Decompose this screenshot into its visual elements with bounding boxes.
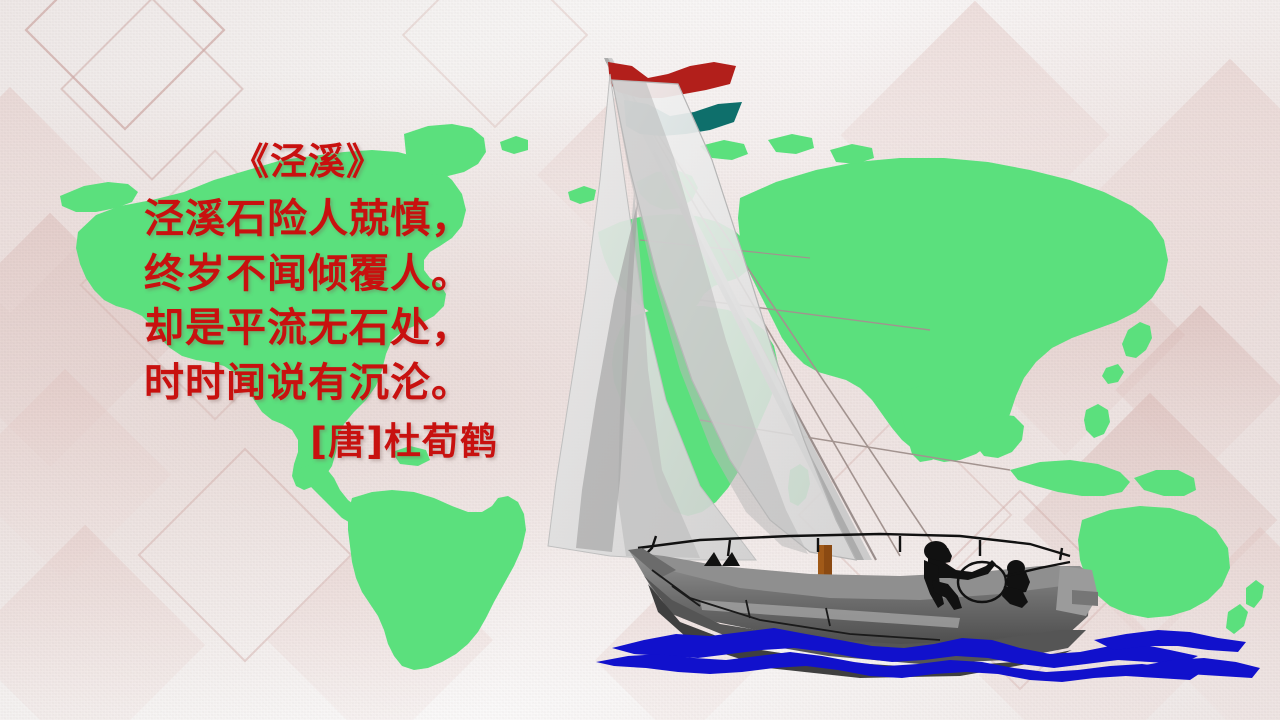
slide-canvas: 《泾溪》 泾溪石险人兢慎， 终岁不闻倾覆人。 却是平流无石处， 时时闻说有沉沦。… <box>0 0 1280 720</box>
poem-block: 《泾溪》 泾溪石险人兢慎， 终岁不闻倾覆人。 却是平流无石处， 时时闻说有沉沦。… <box>108 138 508 467</box>
poem-title: 《泾溪》 <box>108 138 508 187</box>
poem-line-1: 泾溪石险人兢慎， <box>108 193 508 246</box>
poem-line-4: 时时闻说有沉沦。 <box>108 357 508 410</box>
poem-line-2: 终岁不闻倾覆人。 <box>108 248 508 301</box>
poem-line-3: 却是平流无石处， <box>108 302 508 355</box>
poem-author: [唐]杜荀鹤 <box>108 418 508 467</box>
